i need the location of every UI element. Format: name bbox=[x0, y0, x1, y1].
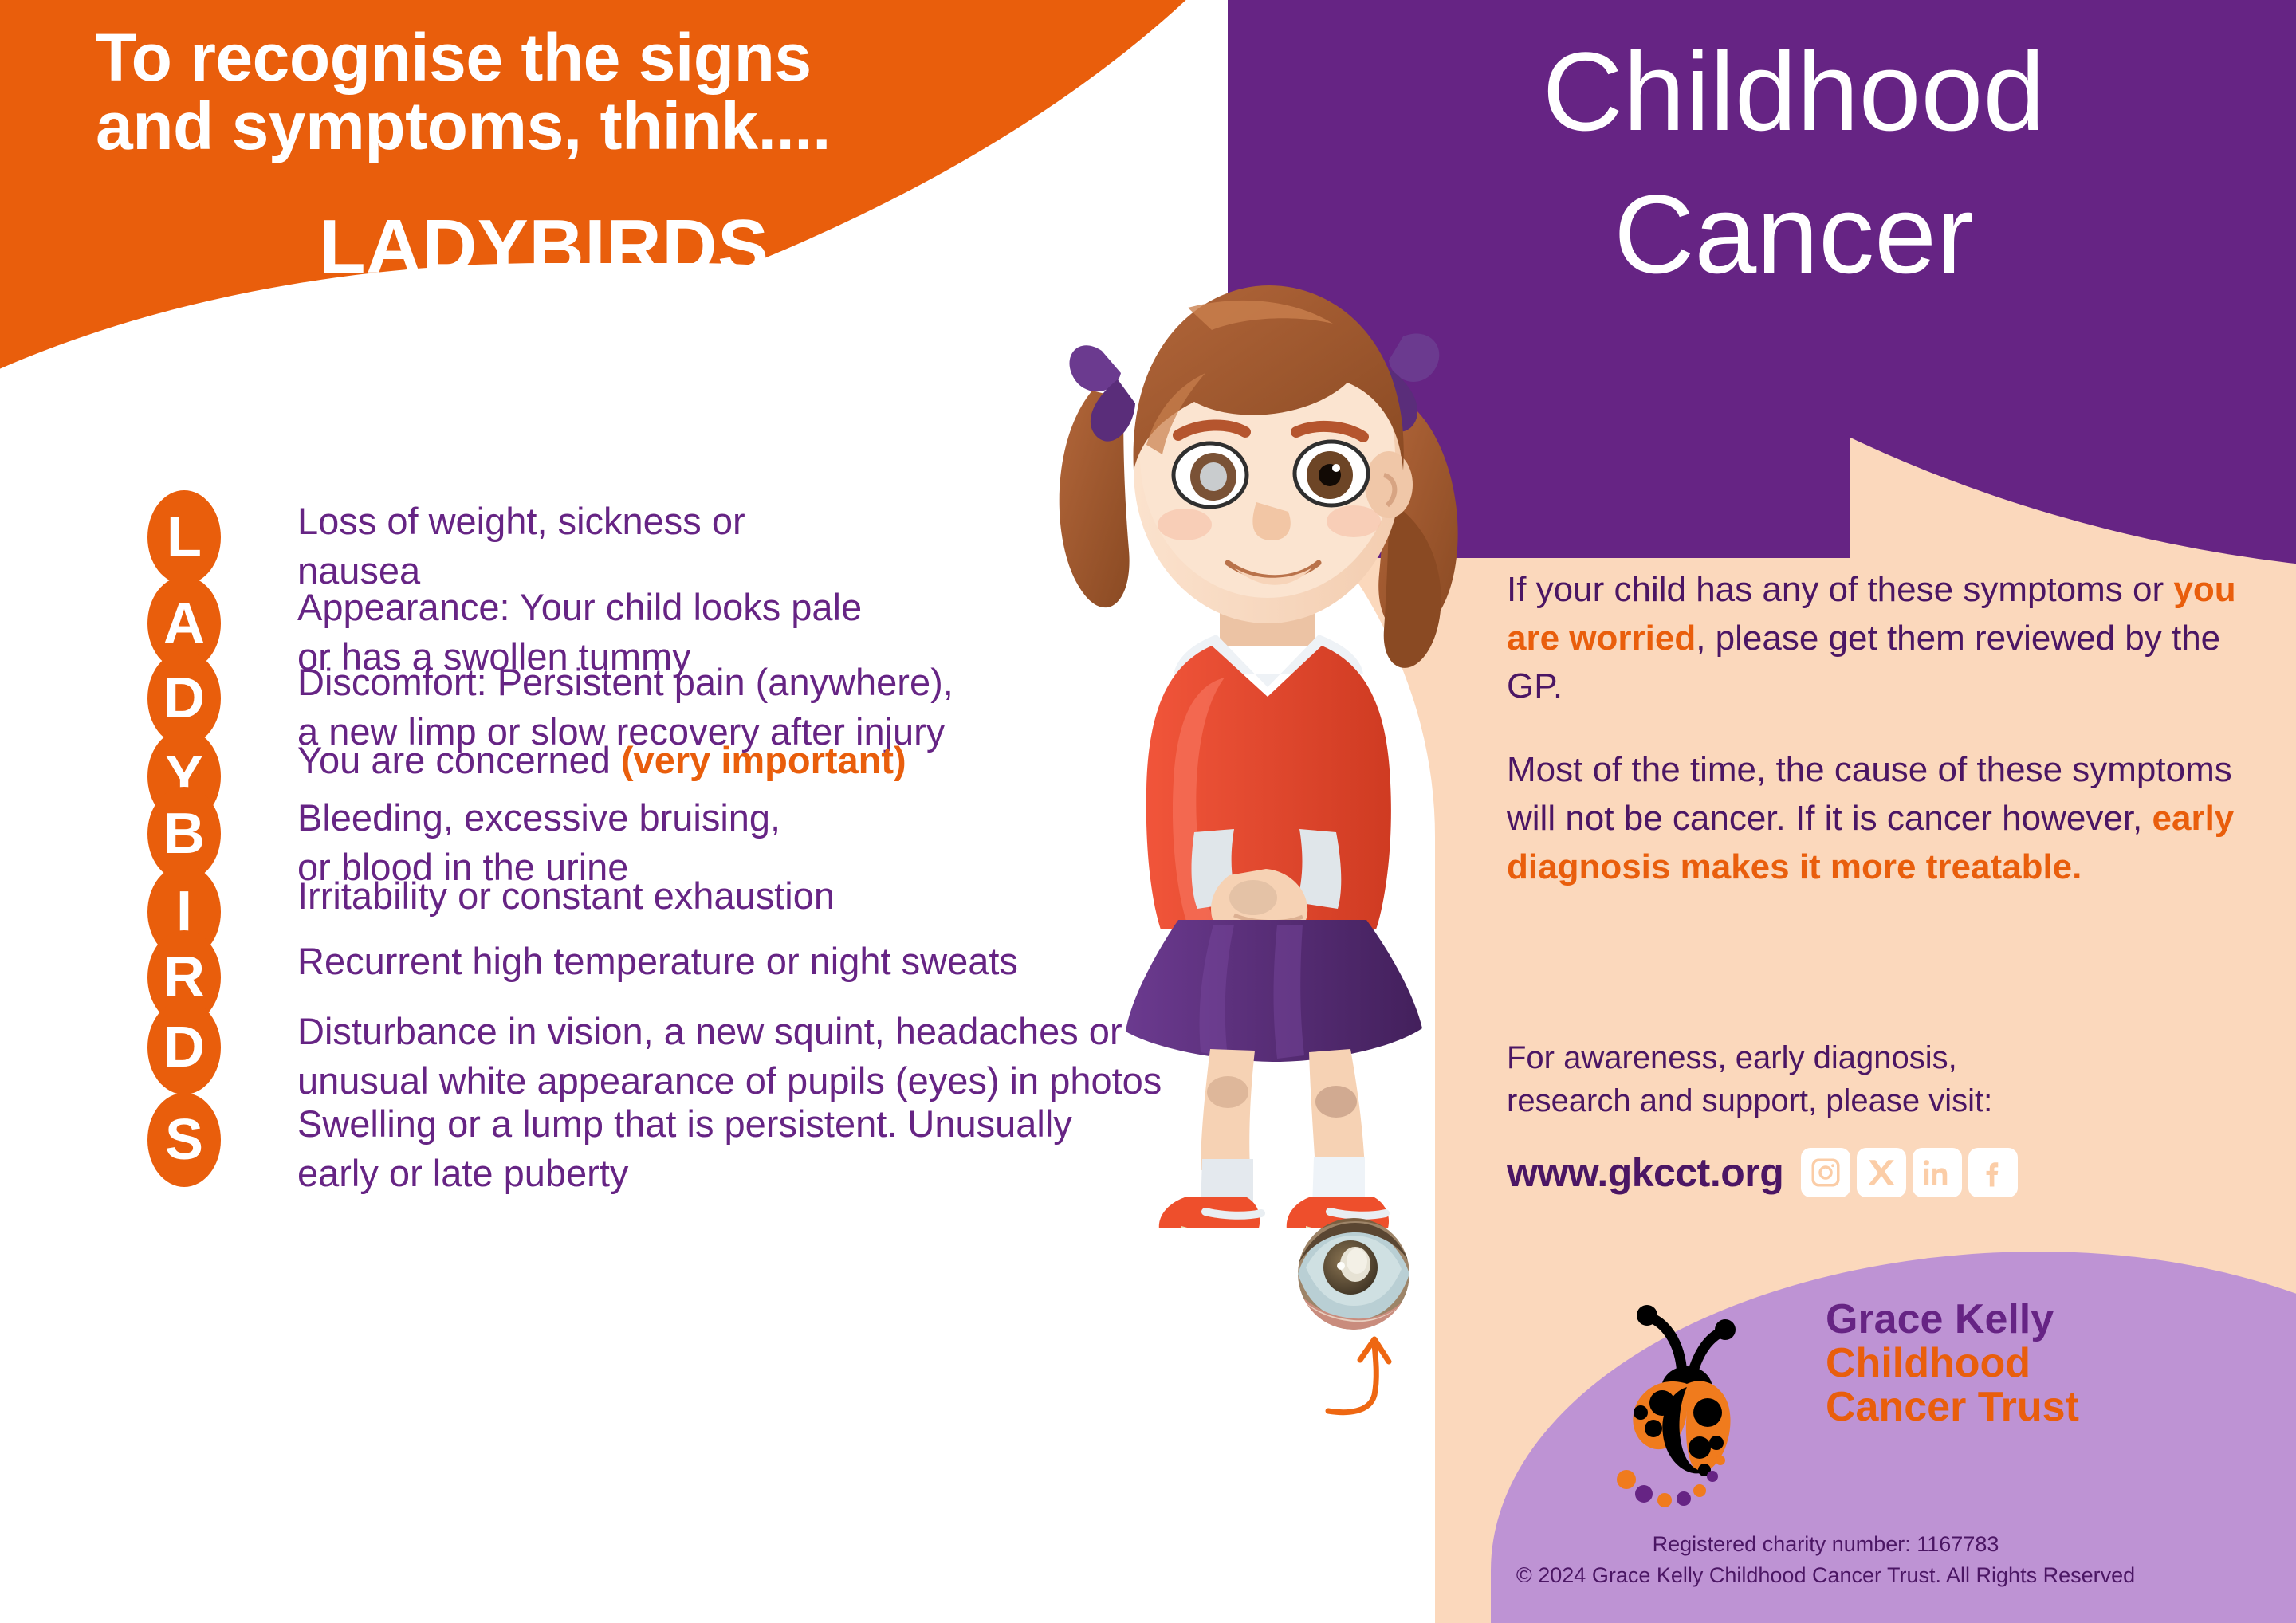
logo-line-1: Grace Kelly bbox=[1826, 1298, 2160, 1342]
headline-left-line1: To recognise the signs bbox=[96, 20, 812, 95]
footer-legal: Registered charity number: 1167783 © 202… bbox=[1427, 1529, 2224, 1591]
headline-right-line1: Childhood bbox=[1323, 24, 2264, 160]
logo-line-3: Cancer Trust bbox=[1826, 1385, 2160, 1429]
social-links bbox=[1801, 1148, 2018, 1197]
letter-badge-s-8: S bbox=[147, 1093, 221, 1187]
ladybirds-row: DDisturbance in vision, a new squint, he… bbox=[147, 1000, 1162, 1106]
ladybirds-row-text: Irritability or constant exhaustion bbox=[297, 865, 835, 921]
logo-line-2: Childhood bbox=[1826, 1342, 2160, 1385]
logo-wordmark: Grace Kelly Childhood Cancer Trust bbox=[1826, 1298, 2160, 1429]
x-icon[interactable] bbox=[1857, 1148, 1906, 1197]
facebook-icon[interactable] bbox=[1968, 1148, 2018, 1197]
row-text-base: You are concerned bbox=[297, 739, 621, 781]
row-text-base: Irritability or constant exhaustion bbox=[297, 874, 835, 917]
instagram-icon[interactable] bbox=[1801, 1148, 1850, 1197]
poster-root: To recognise the signs and symptoms, thi… bbox=[0, 0, 2296, 1623]
eye-leukocoria-photo bbox=[1298, 1218, 1409, 1330]
row-text-base: Recurrent high temperature or night swea… bbox=[297, 940, 1018, 982]
advice-p1-part-a: If your child has any of these symptoms … bbox=[1507, 570, 2173, 609]
row-text-base: Swelling or a lump that is persistent. U… bbox=[297, 1102, 1072, 1194]
charity-logo: Grace Kelly Childhood Cancer Trust bbox=[1586, 1291, 2033, 1499]
copyright-line: © 2024 Grace Kelly Childhood Cancer Trus… bbox=[1427, 1560, 2224, 1591]
ladybirds-row-text: You are concerned (very important) bbox=[297, 729, 906, 785]
ladybirds-row-text: Swelling or a lump that is persistent. U… bbox=[297, 1093, 1072, 1198]
ladybird-logo-mark bbox=[1586, 1291, 1826, 1507]
advice-paragraph-1: If your child has any of these symptoms … bbox=[1507, 566, 2256, 711]
arrow-pointing-to-eye bbox=[1323, 1333, 1419, 1421]
url-and-socials: www.gkcct.org bbox=[1507, 1148, 2018, 1197]
headline-left: To recognise the signs and symptoms, thi… bbox=[96, 24, 1164, 160]
acronym-title: LADYBIRDS bbox=[319, 203, 769, 291]
row-text-highlight: (very important) bbox=[621, 739, 906, 781]
headline-left-line2: and symptoms, think.... bbox=[96, 92, 1164, 161]
letter-badge-d-7: D bbox=[147, 1000, 221, 1094]
website-url[interactable]: www.gkcct.org bbox=[1507, 1149, 1783, 1196]
advice-copy: If your child has any of these symptoms … bbox=[1507, 566, 2256, 926]
linkedin-icon[interactable] bbox=[1913, 1148, 1962, 1197]
advice-paragraph-2: Most of the time, the cause of these sym… bbox=[1507, 746, 2256, 891]
ladybirds-row: SSwelling or a lump that is persistent. … bbox=[147, 1093, 1072, 1198]
ladybirds-row-text: Recurrent high temperature or night swea… bbox=[297, 930, 1018, 986]
visit-copy: For awareness, early diagnosis, research… bbox=[1507, 1036, 2256, 1123]
charity-number: Registered charity number: 1167783 bbox=[1427, 1529, 2224, 1560]
girl-illustration bbox=[1028, 231, 1523, 1228]
letter-badge-l-0: L bbox=[147, 490, 221, 584]
advice-p2-part-a: Most of the time, the cause of these sym… bbox=[1507, 750, 2232, 838]
